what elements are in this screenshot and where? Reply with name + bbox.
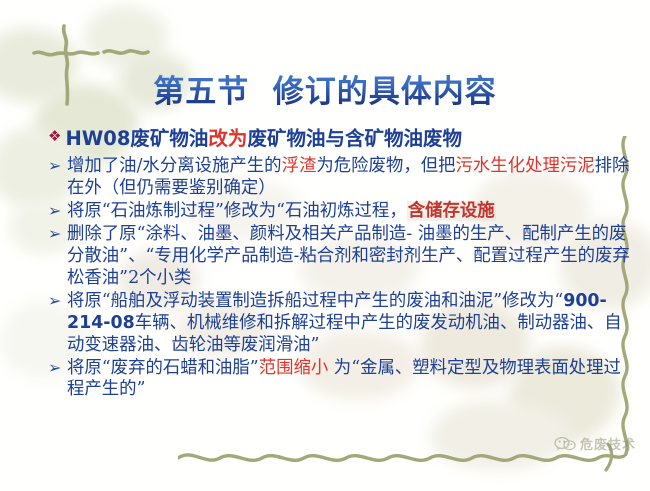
list-item: ➢ 将原“废弃的石蜡和油脂”范围缩小 为“金属、塑料定型及物理表面处理过程产生的… [48, 358, 638, 402]
watermark-label: 危废技术 [580, 434, 636, 453]
segment: 将原“石油炼制过程”修改为“石油初炼过程， [67, 201, 407, 221]
leaf-blotch [84, 6, 168, 68]
list-item-text: 增加了油/水分离设施产生的浮渣为危险废物，但把污水生化处理污泥排除在外（但仍需要… [67, 156, 638, 200]
diamond-bullet-icon: ❖ [48, 125, 61, 148]
arrow-bullet-icon: ➢ [48, 291, 65, 311]
arrow-bullet-icon: ➢ [48, 224, 65, 244]
wechat-icon [554, 436, 576, 452]
segment-highlight: 范围缩小 [259, 358, 329, 378]
segment: 增加了油/水分离设施产生的 [67, 156, 282, 176]
watermark-logo: 危废技术 [554, 434, 636, 453]
arrow-bullet-icon: ➢ [48, 358, 65, 378]
list-item-text: 将原“石油炼制过程”修改为“石油初炼过程，含储存设施 [67, 201, 638, 223]
list-item: ➢ 增加了油/水分离设施产生的浮渣为危险废物，但把污水生化处理污泥排除在外（但仍… [48, 156, 638, 200]
lead-part1: HW08废矿物油 [65, 127, 208, 150]
arrow-bullet-icon: ➢ [48, 156, 65, 176]
segment: 为危险废物，但把 [316, 156, 455, 176]
segment: 将原“船舶及浮动装置制造拆船过程中产生的废油和油泥”修改为“ [67, 291, 563, 311]
lead-text: HW08废矿物油改为废矿物油与含矿物油废物 [65, 124, 462, 153]
segment: 车辆、机械维修和拆解过程中产生的废发动机油、制动器油、自动变速器油、齿轮油等废润… [67, 313, 622, 355]
leaf-blotch [430, 400, 570, 470]
slide-canvas: 第五节 修订的具体内容 ❖ HW08废矿物油改为废矿物油与含矿物油废物 ➢ 增加… [0, 0, 650, 491]
list-item-text: 删除了原“涂料、油墨、颜料及相关产品制造- 油墨的生产、配制产生的废分散油”、“… [67, 224, 638, 290]
slide-content: ❖ HW08废矿物油改为废矿物油与含矿物油废物 ➢ 增加了油/水分离设施产生的浮… [48, 124, 638, 402]
list-item: ➢ 将原“石油炼制过程”修改为“石油初炼过程，含储存设施 [48, 201, 638, 223]
lead-part3: 废矿物油与含矿物油废物 [247, 127, 462, 150]
segment-highlight: 污水生化处理污泥 [456, 156, 595, 176]
list-item: ➢ 删除了原“涂料、油墨、颜料及相关产品制造- 油墨的生产、配制产生的废分散油”… [48, 224, 638, 290]
list-item-text: 将原“废弃的石蜡和油脂”范围缩小 为“金属、塑料定型及物理表面处理过程产生的” [67, 358, 638, 402]
segment-highlight: 含储存设施 [407, 201, 496, 221]
lead-changed-keyword: 改为 [208, 127, 247, 150]
segment-highlight: 浮渣 [282, 156, 317, 176]
lead-bullet-row: ❖ HW08废矿物油改为废矿物油与含矿物油废物 [48, 124, 638, 153]
arrow-bullet-icon: ➢ [48, 201, 65, 221]
slide-title: 第五节 修订的具体内容 [0, 66, 650, 111]
segment: 将原“废弃的石蜡和油脂” [67, 358, 259, 378]
list-item-text: 将原“船舶及浮动装置制造拆船过程中产生的废油和油泥”修改为“900-214-08… [67, 291, 638, 357]
list-item: ➢ 将原“船舶及浮动装置制造拆船过程中产生的废油和油泥”修改为“900-214-… [48, 291, 638, 357]
